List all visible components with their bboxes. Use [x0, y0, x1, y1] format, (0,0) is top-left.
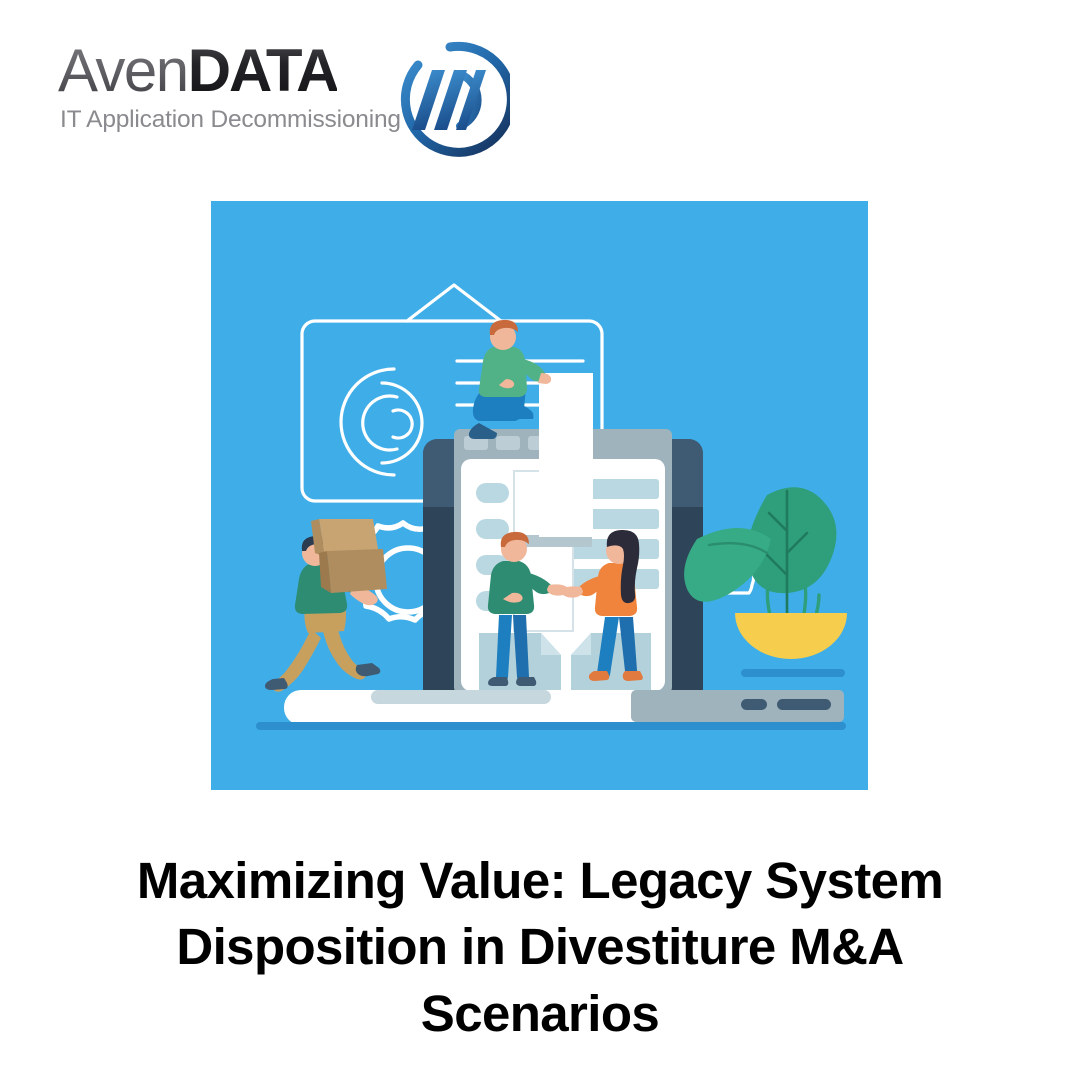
brand-wordmark-light: Aven — [58, 37, 188, 104]
page-title: Maximizing Value: Legacy System Disposit… — [120, 848, 960, 1047]
hero-illustration — [211, 201, 868, 790]
brand-wordmark-bold: DATA — [188, 37, 338, 104]
avendata-arc-mark-icon — [390, 40, 510, 160]
document-sheet — [539, 373, 593, 537]
laptop-base — [256, 690, 846, 730]
brand-tagline: IT Application Decommissioning — [60, 106, 401, 134]
brand-wordmark: AvenDATA — [58, 38, 337, 104]
brand-logo[interactable]: AvenDATA IT Application Decommissioning — [58, 38, 488, 153]
